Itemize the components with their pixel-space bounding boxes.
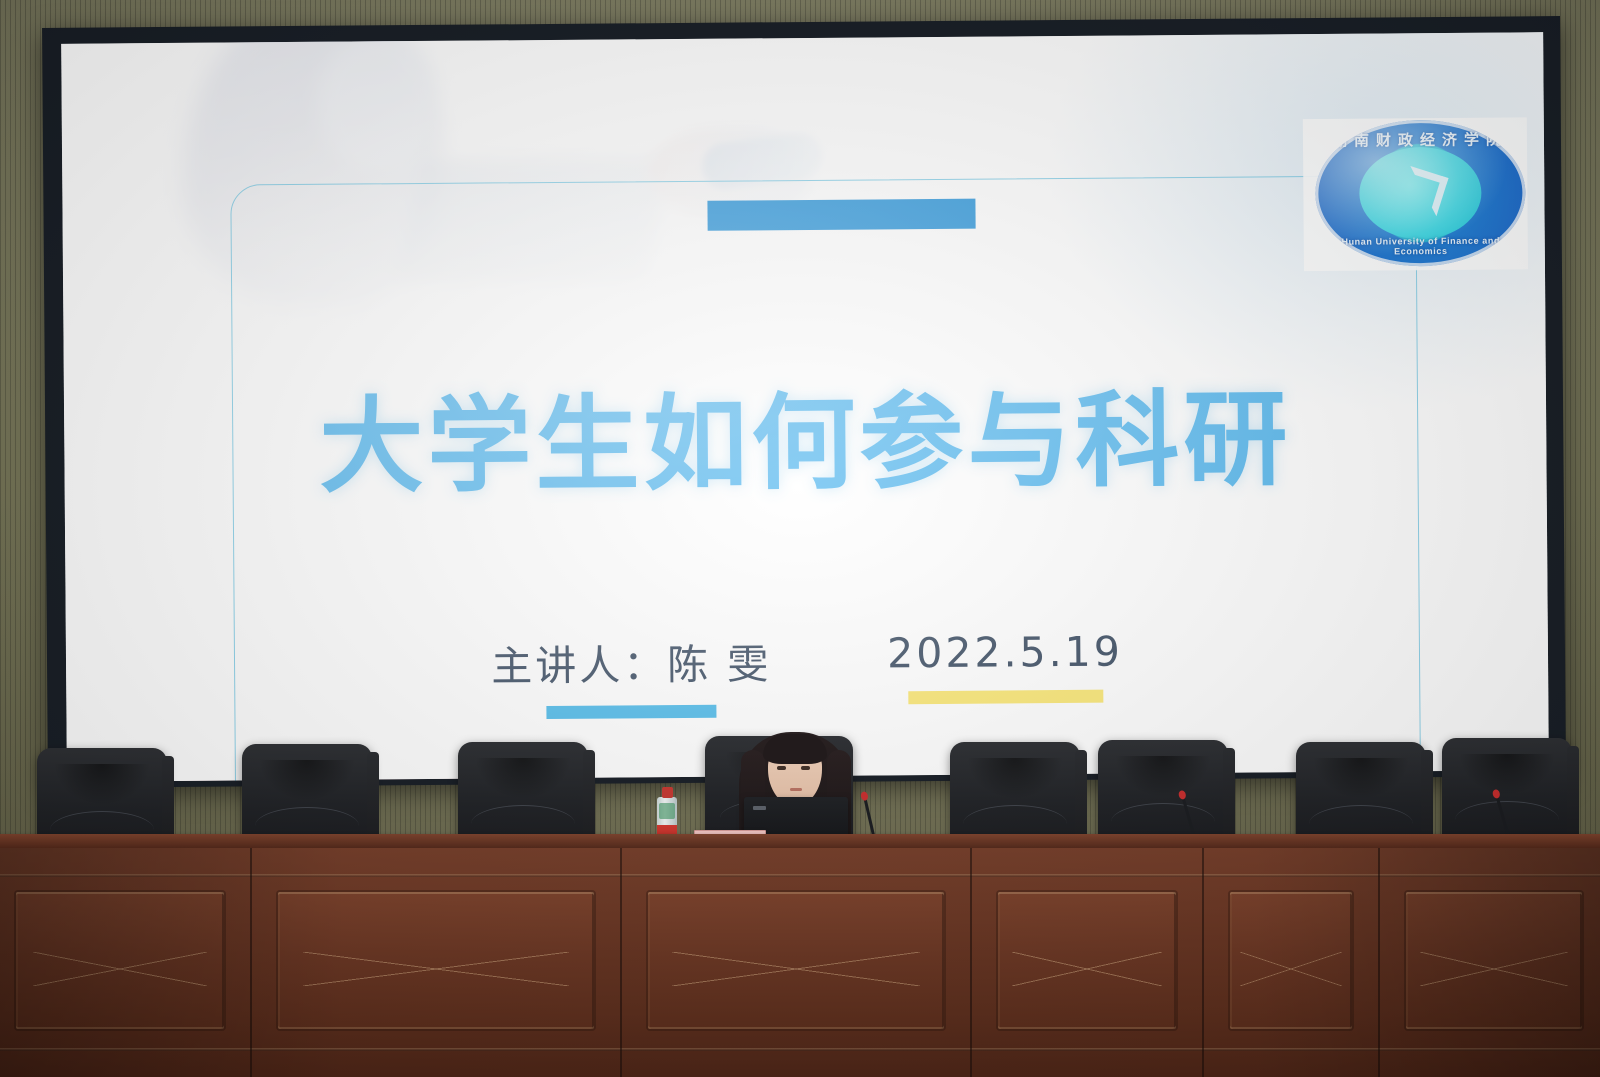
desk-segment-2 (252, 848, 622, 1077)
bottle-cap (662, 787, 673, 798)
conference-desk (0, 834, 1600, 1077)
desk-panel (278, 892, 594, 1029)
desk-segment-6 (1380, 848, 1600, 1077)
speaker-label: 主讲人：陈 雯 (491, 630, 772, 692)
desk-chevron-ornament (303, 952, 568, 986)
date-label: 2022.5.19 (887, 628, 1123, 678)
speaker-block: 主讲人：陈 雯 (491, 630, 772, 719)
presenter-eye-left (777, 766, 786, 770)
desk-panel (648, 892, 944, 1029)
desk-chevron-ornament (672, 952, 921, 986)
logo-english-name: Hunan University of Finance and Economic… (1316, 235, 1526, 257)
date-block: 2022.5.19 (887, 628, 1123, 705)
desk-segment-5 (1204, 848, 1380, 1077)
logo-glyph-icon (1398, 166, 1448, 216)
desk-front-body (0, 848, 1600, 1077)
desk-segment-1 (0, 848, 252, 1077)
desk-chevron-ornament (33, 952, 208, 986)
chair-arm (583, 750, 595, 846)
conference-room-photo: 大学生如何参与科研 主讲人：陈 雯 2022.5.19 湖南财政经济学院 (0, 0, 1600, 1077)
university-logo-seal: 湖南财政经济学院 Hunan University of Finance and… (1315, 119, 1526, 267)
slide-title: 大学生如何参与科研 (64, 352, 1547, 515)
logo-inner-disc (1359, 147, 1482, 240)
desk-chevron-ornament (1420, 952, 1568, 986)
desk-segment-4 (972, 848, 1204, 1077)
desk-panel (1230, 892, 1352, 1029)
desk-panel (16, 892, 224, 1029)
projection-screen-frame: 大学生如何参与科研 主讲人：陈 雯 2022.5.19 湖南财政经济学院 (42, 16, 1566, 788)
desk-panel (1406, 892, 1582, 1029)
desk-segment-3 (622, 848, 972, 1077)
bottle-green-tint (659, 803, 675, 819)
presenter-mouth (790, 788, 802, 791)
projection-screen: 大学生如何参与科研 主讲人：陈 雯 2022.5.19 湖南财政经济学院 (61, 32, 1549, 782)
slide-subtitle-row: 主讲人：陈 雯 2022.5.19 (66, 624, 1549, 723)
presenter-fringe (763, 734, 827, 764)
chair-arm (1421, 750, 1433, 846)
chair-arm (1223, 748, 1235, 844)
desk-chevron-ornament (1012, 952, 1162, 986)
university-logo-card: 湖南财政经济学院 Hunan University of Finance and… (1303, 117, 1528, 271)
slide-accent-bar (707, 199, 975, 231)
speaker-underline-bar (547, 705, 717, 719)
chair-arm (1075, 750, 1087, 846)
desk-panel (998, 892, 1176, 1029)
presenter-eye-right (801, 766, 810, 770)
laptop-logo-icon (753, 806, 766, 810)
date-underline-bar (908, 690, 1103, 705)
chair-arm (1567, 746, 1579, 842)
desk-chevron-ornament (1240, 952, 1343, 986)
